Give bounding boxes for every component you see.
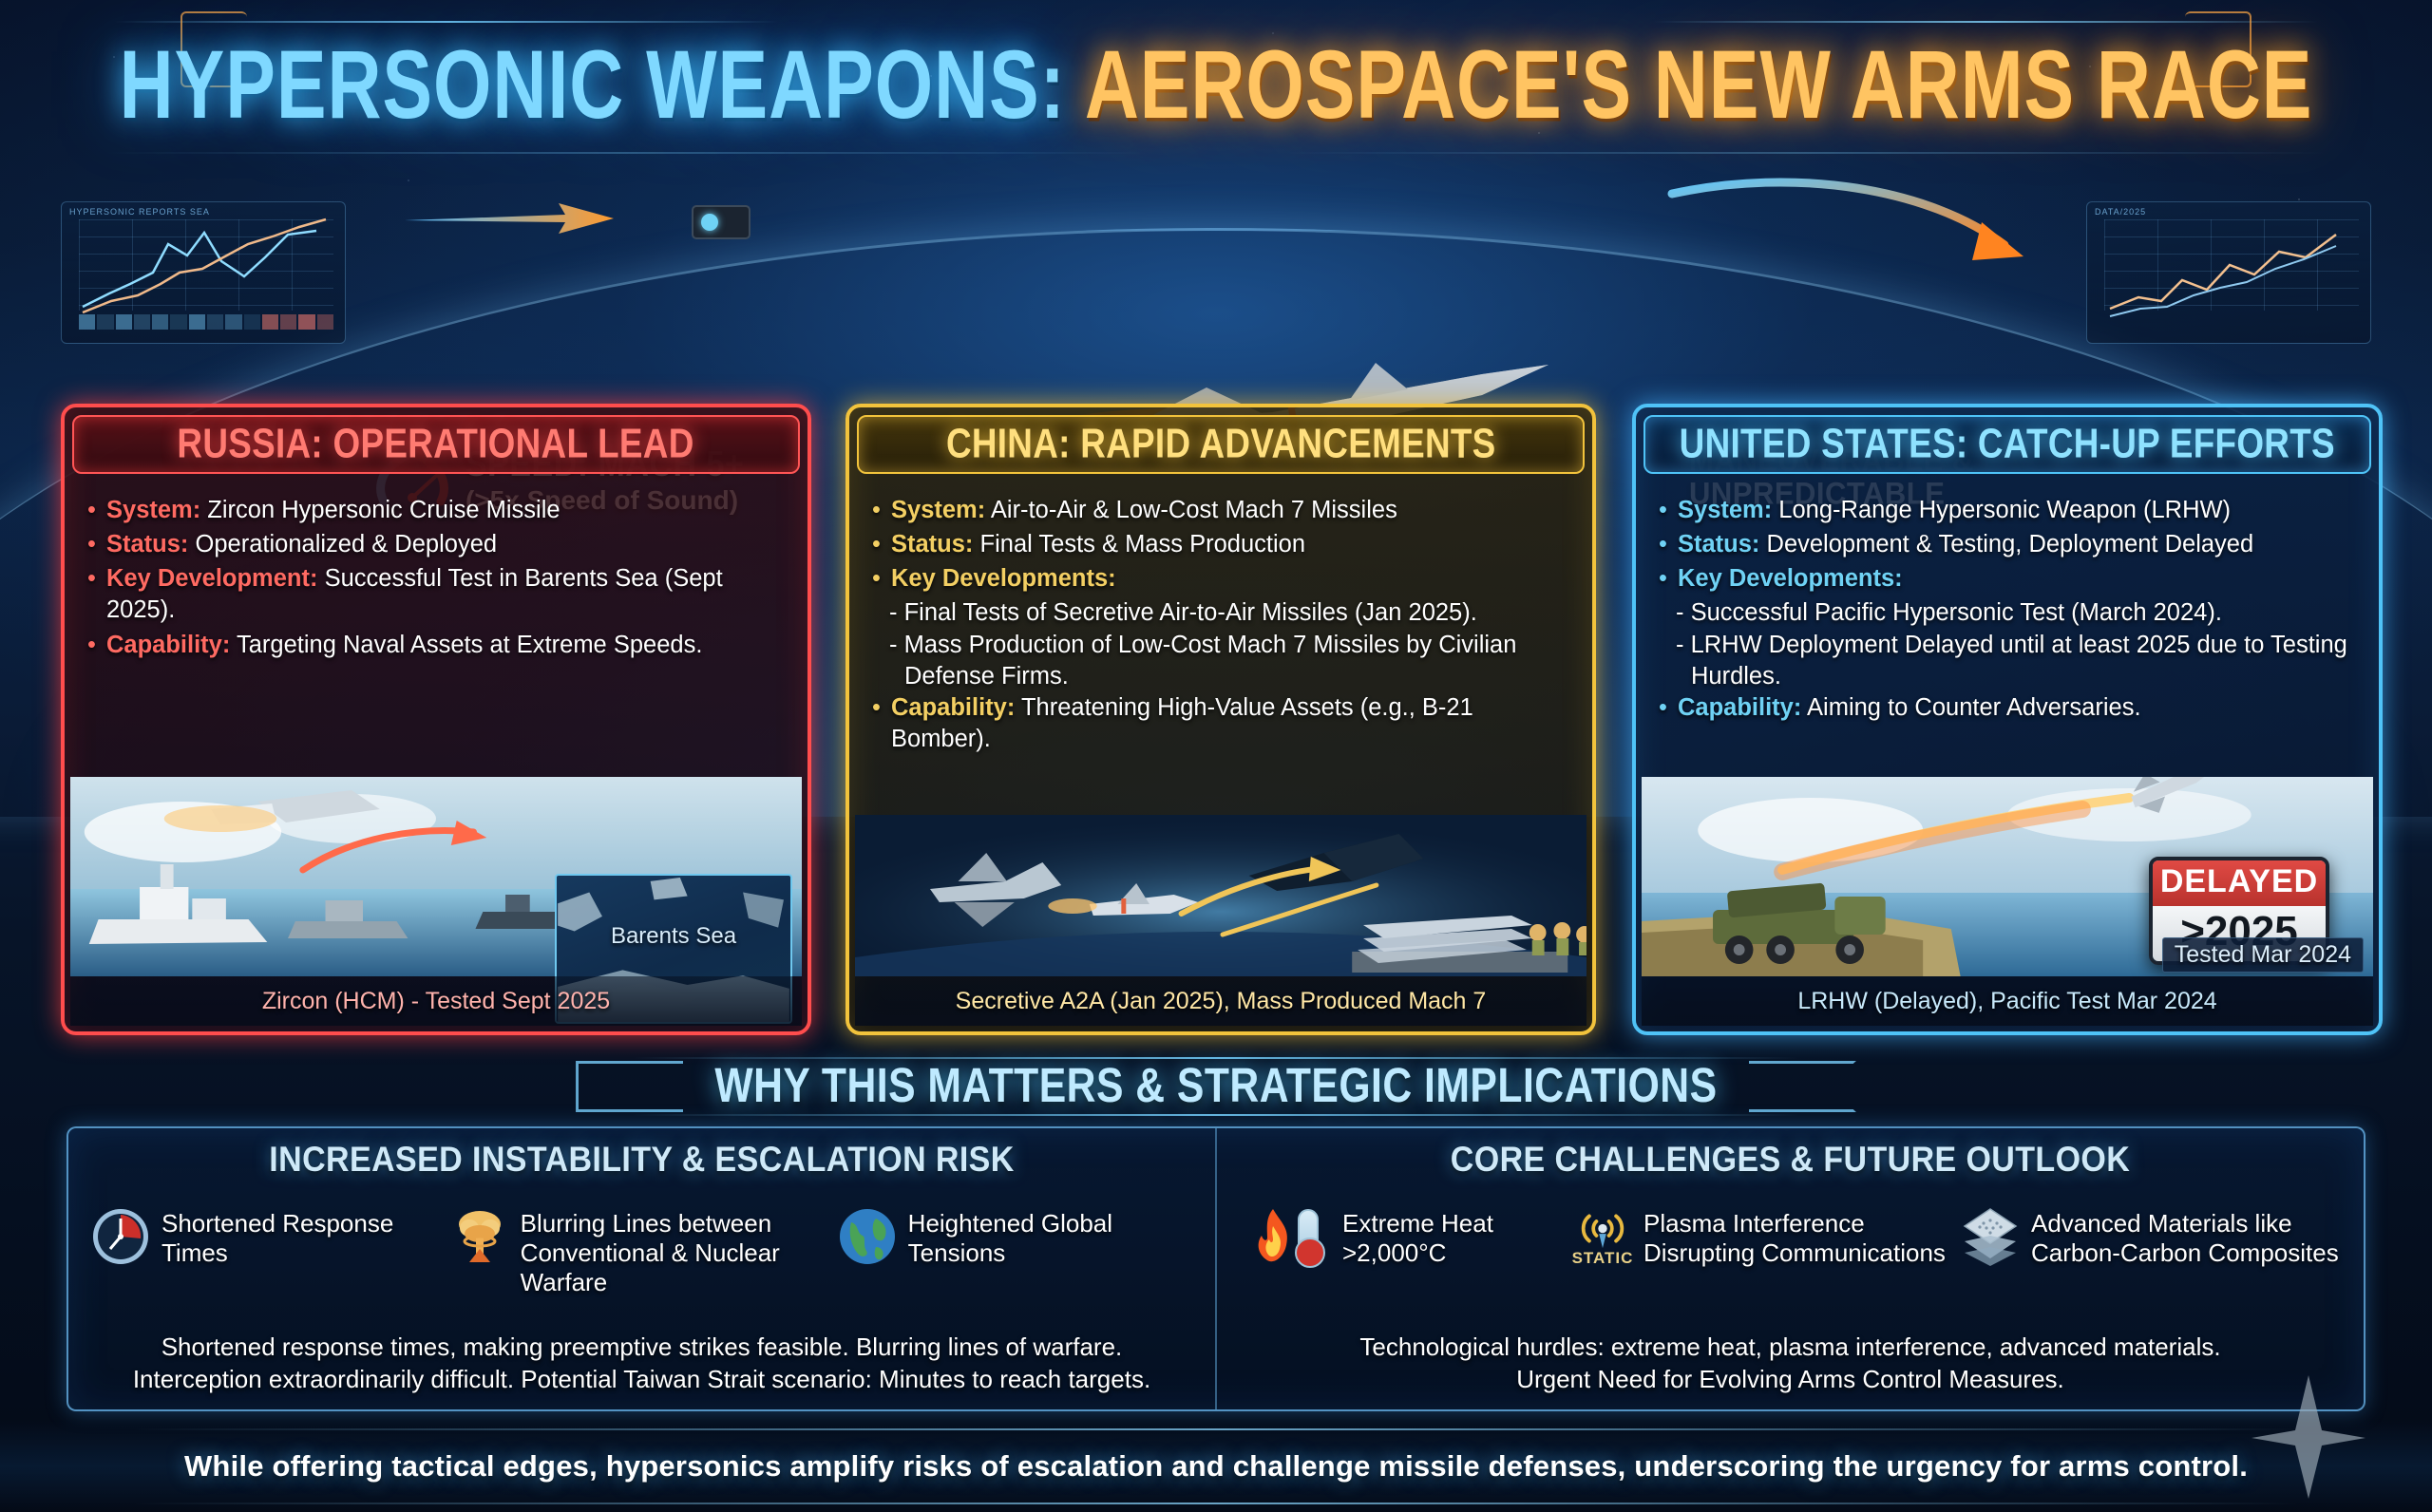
signal-static-icon: STATIC — [1573, 1207, 1632, 1266]
instability-items: Shortened Response Times Blurring Lines … — [85, 1207, 1198, 1298]
panel-united-states-header: UNITED STATES: CATCH-UP EFFORTS — [1643, 415, 2371, 474]
tested-tag-text: Tested Mar 2024 — [2175, 941, 2351, 968]
speed-arrow-icon — [399, 190, 627, 247]
thermometer-icon — [1298, 1209, 1319, 1264]
bullet-label: Capability: — [106, 632, 230, 658]
sparkle-decoration — [2251, 1375, 2365, 1499]
list-item-label: Heightened Global Tensions — [908, 1207, 1192, 1268]
footer-conclusion: While offering tactical edges, hypersoni… — [0, 1421, 2432, 1512]
header: HYPERSONIC WEAPONS: AEROSPACE'S NEW ARMS… — [0, 0, 2432, 171]
instability-summary: Shortened response times, making preempt… — [82, 1332, 1202, 1396]
mini-chart-left: HYPERSONIC REPORTS SEA — [61, 201, 346, 344]
bullet-label: Key Developments: — [891, 565, 1116, 592]
title-part-2: AEROSPACE'S NEW ARMS RACE — [1085, 29, 2313, 139]
bullet-text: Operationalized & Deployed — [188, 531, 497, 558]
panel-china-caption: Secretive A2A (Jan 2025), Mass Produced … — [855, 976, 1586, 1026]
bullet-label: Status: — [891, 531, 973, 558]
instability-summary-line2: Interception extraordinarily difficult. … — [82, 1364, 1202, 1396]
panel-russia-caption: Zircon (HCM) - Tested Sept 2025 — [70, 976, 802, 1026]
list-item: Advanced Materials like Carbon-Carbon Co… — [1961, 1207, 2341, 1268]
panel-china-illustration — [855, 815, 1586, 976]
globe-icon — [838, 1207, 897, 1266]
bullet-item: •Status: Final Tests & Mass Production — [872, 529, 1571, 560]
delayed-badge-label: DELAYED — [2153, 860, 2326, 906]
bullet-text: Air-to-Air & Low-Cost Mach 7 Missiles — [985, 497, 1397, 523]
bullet-item: •Key Developments: — [872, 563, 1571, 595]
sub-bullet-item: - Successful Pacific Hypersonic Test (Ma… — [1659, 597, 2358, 629]
mini-chart-left-bars — [79, 314, 333, 330]
nuclear-explosion-icon — [450, 1207, 509, 1266]
list-item-label: Plasma Interference Disrupting Communica… — [1643, 1207, 1953, 1268]
fire-thermometer-icon — [1240, 1207, 1331, 1266]
instability-column: INCREASED INSTABILITY & ESCALATION RISK … — [68, 1128, 1215, 1409]
strategic-implications-section: INCREASED INSTABILITY & ESCALATION RISK … — [66, 1126, 2365, 1411]
sensor-icon — [692, 205, 750, 239]
bullet-label: System: — [1678, 497, 1772, 523]
panel-united-states-body: •System: Long-Range Hypersonic Weapon (L… — [1636, 482, 2379, 724]
bullet-label: Key Development: — [106, 565, 317, 592]
panel-russia-caption-text: Zircon (HCM) - Tested Sept 2025 — [262, 988, 610, 1015]
panel-united-states[interactable]: UNITED STATES: CATCH-UP EFFORTS •System:… — [1632, 404, 2383, 1035]
bullet-label: System: — [106, 497, 200, 523]
footer-text: While offering tactical edges, hypersoni… — [184, 1449, 2248, 1484]
instability-column-title: INCREASED INSTABILITY & ESCALATION RISK — [85, 1140, 1198, 1181]
panel-russia-body: •System: Zircon Hypersonic Cruise Missil… — [65, 482, 807, 661]
static-icon-label: STATIC — [1572, 1250, 1634, 1266]
bullet-text: Aiming to Counter Adversaries. — [1801, 694, 2140, 721]
panel-russia-title: RUSSIA: OPERATIONAL LEAD — [178, 421, 694, 467]
why-this-matters-banner: WHY THIS MATTERS & STRATEGIC IMPLICATION… — [0, 1052, 2432, 1121]
bullet-label: Key Developments: — [1678, 565, 1903, 592]
bullet-text: Targeting Naval Assets at Extreme Speeds… — [230, 632, 702, 658]
bullet-item: •Status: Operationalized & Deployed — [87, 529, 787, 560]
list-item: Shortened Response Times — [91, 1207, 443, 1298]
clock-icon — [91, 1207, 150, 1266]
maneuver-arrow-icon — [1662, 161, 2071, 285]
bullet-label: Capability: — [1678, 694, 1801, 721]
country-panels: RUSSIA: OPERATIONAL LEAD •System: Zircon… — [0, 394, 2432, 1049]
panel-russia[interactable]: RUSSIA: OPERATIONAL LEAD •System: Zircon… — [61, 404, 811, 1035]
panel-china-title: CHINA: RAPID ADVANCEMENTS — [946, 421, 1496, 467]
bullet-item: •Capability: Threatening High-Value Asse… — [872, 692, 1571, 755]
mini-chart-right-lines — [2087, 202, 2371, 344]
list-item-label: Blurring Lines between Conventional & Nu… — [521, 1207, 830, 1298]
list-item-label: Shortened Response Times — [161, 1207, 443, 1268]
sub-bullet-item: - Final Tests of Secretive Air-to-Air Mi… — [872, 597, 1571, 629]
panel-china-caption-text: Secretive A2A (Jan 2025), Mass Produced … — [956, 988, 1487, 1015]
list-item: Extreme Heat >2,000°C — [1240, 1207, 1566, 1268]
panel-united-states-title: UNITED STATES: CATCH-UP EFFORTS — [1680, 421, 2335, 467]
bullet-label: System: — [891, 497, 985, 523]
panel-china[interactable]: CHINA: RAPID ADVANCEMENTS •System: Air-t… — [845, 404, 1596, 1035]
bullet-item: •System: Long-Range Hypersonic Weapon (L… — [1659, 495, 2358, 526]
bullet-item: •Capability: Targeting Naval Assets at E… — [87, 630, 787, 661]
why-this-matters-title: WHY THIS MATTERS & STRATEGIC IMPLICATION… — [714, 1059, 1717, 1114]
bullet-text: Zircon Hypersonic Cruise Missile — [200, 497, 560, 523]
bullet-item: •Key Developments: — [1659, 563, 2358, 595]
sub-bullet-item: - Mass Production of Low-Cost Mach 7 Mis… — [872, 630, 1571, 692]
material-layers-icon — [1961, 1207, 2020, 1266]
bullet-label: Status: — [106, 531, 188, 558]
panel-united-states-caption: LRHW (Delayed), Pacific Test Mar 2024 — [1642, 976, 2373, 1026]
bullet-item: •System: Zircon Hypersonic Cruise Missil… — [87, 495, 787, 526]
panel-united-states-caption-text: LRHW (Delayed), Pacific Test Mar 2024 — [1797, 988, 2216, 1015]
bullet-text: Development & Testing, Deployment Delaye… — [1759, 531, 2253, 558]
panel-china-header: CHINA: RAPID ADVANCEMENTS — [857, 415, 1585, 474]
challenges-summary: Technological hurdles: extreme heat, pla… — [1230, 1332, 2350, 1396]
hero-band: HYPERSONIC REPORTS SEA DATA/2025 — [0, 171, 2432, 394]
bullet-item: •Capability: Aiming to Counter Adversari… — [1659, 692, 2358, 724]
list-item: Blurring Lines between Conventional & Nu… — [450, 1207, 830, 1298]
tested-tag: Tested Mar 2024 — [2162, 937, 2364, 973]
bullet-item: •Status: Development & Testing, Deployme… — [1659, 529, 2358, 560]
instability-summary-line1: Shortened response times, making preempt… — [82, 1332, 1202, 1364]
bullet-text: Long-Range Hypersonic Weapon (LRHW) — [1772, 497, 2231, 523]
list-item-label: Extreme Heat >2,000°C — [1342, 1207, 1566, 1268]
challenges-column: CORE CHALLENGES & FUTURE OUTLOOK Extreme… — [1215, 1128, 2364, 1409]
challenges-items: Extreme Heat >2,000°C STATIC Plasma Inte… — [1234, 1207, 2346, 1268]
page-title: HYPERSONIC WEAPONS: AEROSPACE'S NEW ARMS… — [0, 28, 2432, 121]
mini-chart-right: DATA/2025 — [2086, 201, 2371, 344]
challenges-summary-line2: Urgent Need for Evolving Arms Control Me… — [1230, 1364, 2350, 1396]
hud-line-lower-left — [104, 152, 1149, 154]
challenges-column-title: CORE CHALLENGES & FUTURE OUTLOOK — [1234, 1140, 2346, 1181]
map-inset-label: Barents Sea — [557, 923, 790, 950]
list-item: STATIC Plasma Interference Disrupting Co… — [1573, 1207, 1953, 1268]
title-part-1: HYPERSONIC WEAPONS: — [120, 29, 1066, 139]
panel-china-body: •System: Air-to-Air & Low-Cost Mach 7 Mi… — [849, 482, 1592, 755]
bullet-item: •System: Air-to-Air & Low-Cost Mach 7 Mi… — [872, 495, 1571, 526]
list-item: Heightened Global Tensions — [838, 1207, 1192, 1298]
bullet-label: Capability: — [891, 694, 1015, 721]
bullet-text: Final Tests & Mass Production — [973, 531, 1305, 558]
bullet-item: •Key Development: Successful Test in Bar… — [87, 563, 787, 626]
panel-russia-header: RUSSIA: OPERATIONAL LEAD — [72, 415, 800, 474]
bullet-label: Status: — [1678, 531, 1759, 558]
sub-bullet-item: - LRHW Deployment Delayed until at least… — [1659, 630, 2358, 692]
challenges-summary-line1: Technological hurdles: extreme heat, pla… — [1230, 1332, 2350, 1364]
list-item-label: Advanced Materials like Carbon-Carbon Co… — [2031, 1207, 2341, 1268]
hud-line-lower-right — [1282, 152, 2327, 154]
